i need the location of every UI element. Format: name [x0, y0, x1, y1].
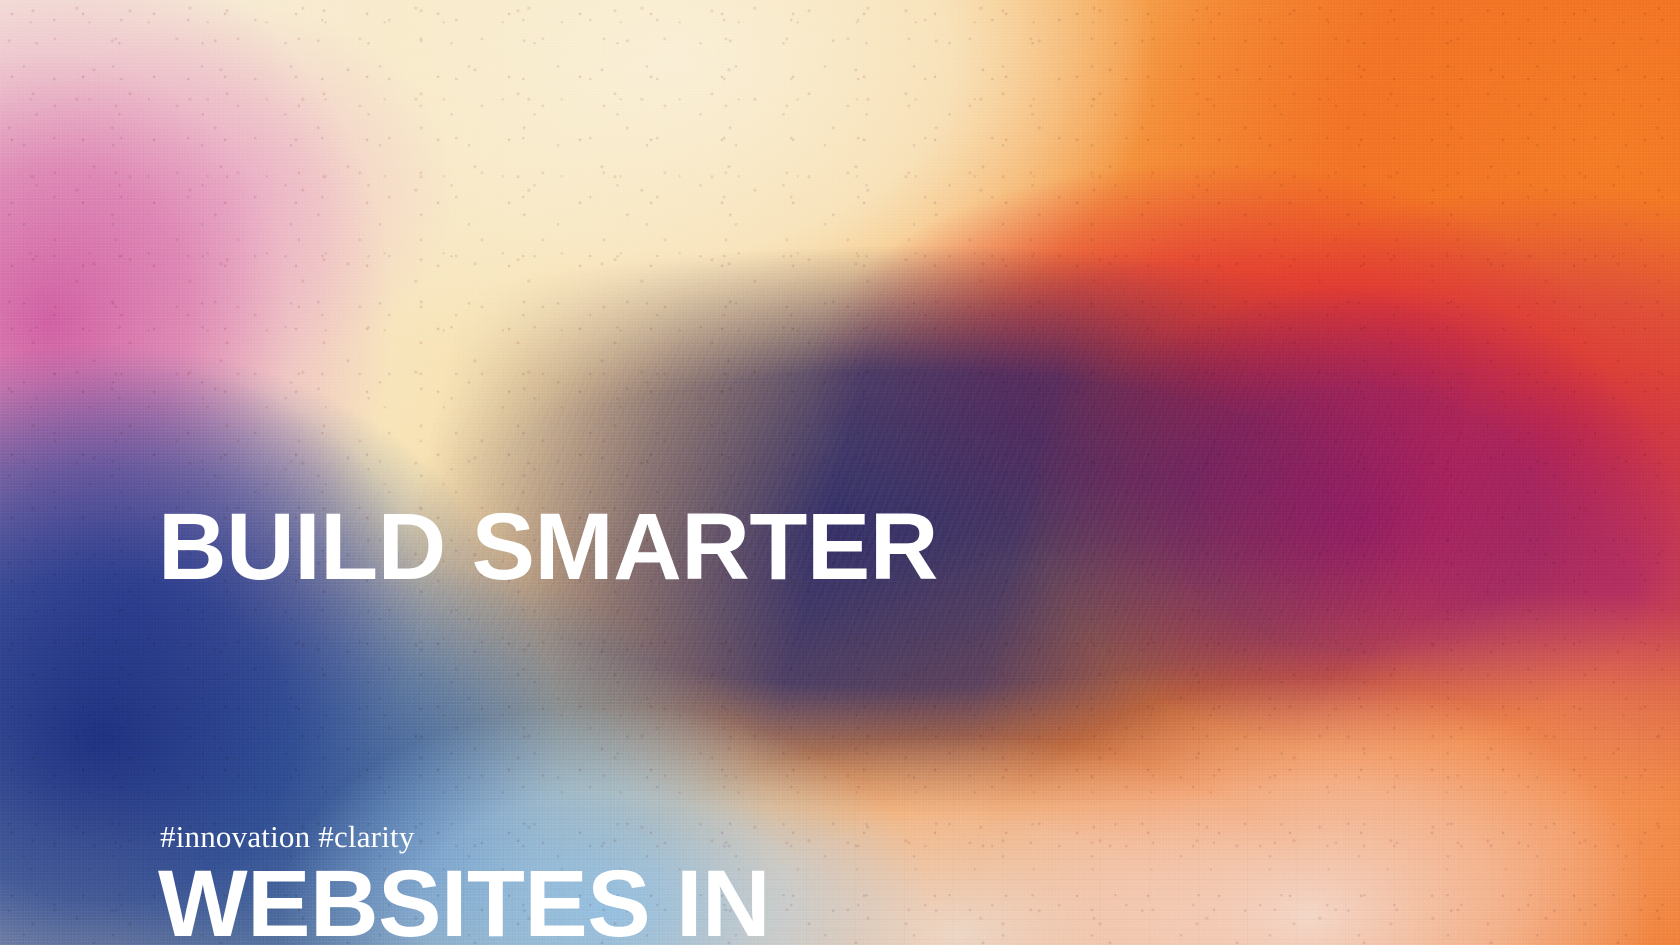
banner-content: BUILD SMARTER WEBSITES IN LESS TIME #inn…: [158, 0, 1558, 945]
promo-banner: BUILD SMARTER WEBSITES IN LESS TIME #inn…: [0, 0, 1680, 945]
headline-line-2: WEBSITES IN: [158, 845, 938, 945]
hashtag-line: #innovation #clarity: [160, 818, 415, 856]
headline-line-1: BUILD SMARTER: [158, 488, 938, 607]
